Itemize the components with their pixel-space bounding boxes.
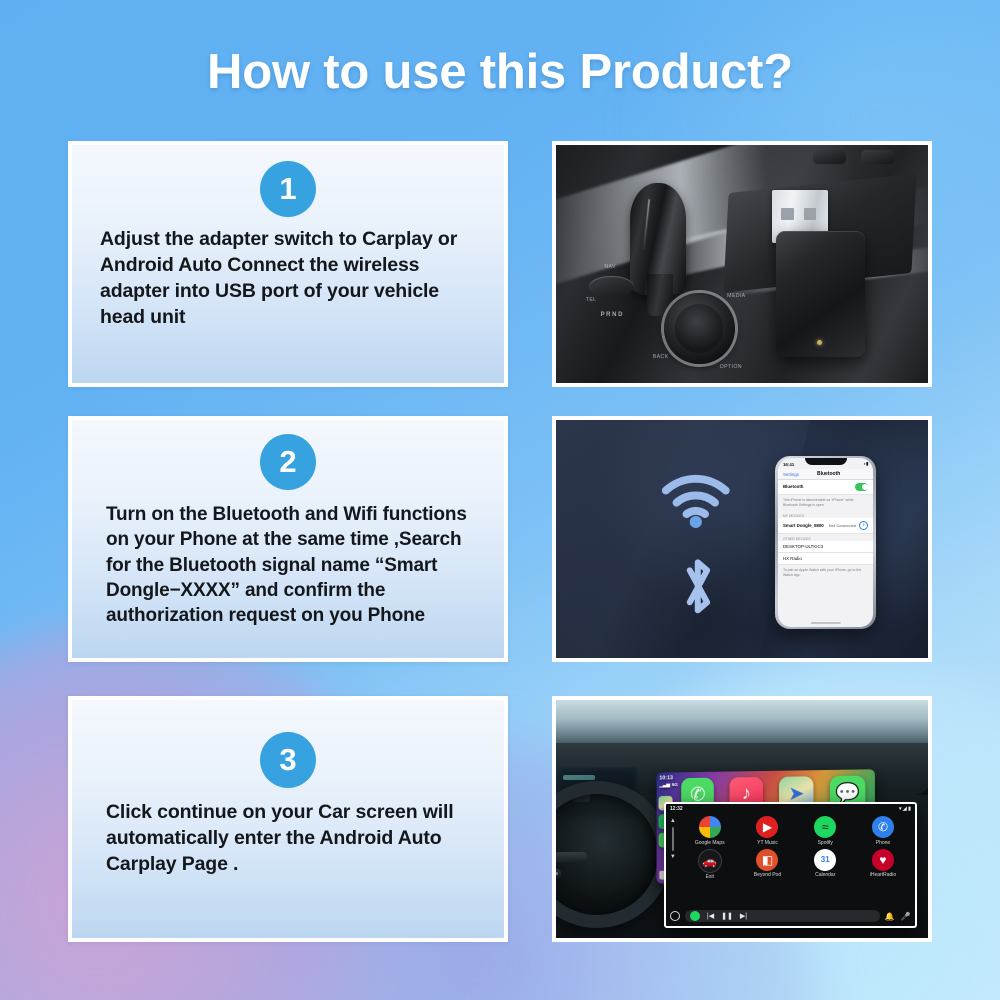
android-auto-app[interactable]: ≈ Spotify <box>797 816 853 846</box>
android-auto-app[interactable]: ♥ iHeartRadio <box>855 849 911 881</box>
bluetooth-discoverable-note: This iPhone is discoverable as "iPhone" … <box>778 495 873 512</box>
android-auto-app[interactable]: Google Maps <box>682 816 738 846</box>
step-image-2: 16:41 ◗▮ Settings Bluetooth Bluetooth <box>552 416 932 662</box>
infographic-poster: How to use this Product? 1 Adjust the ad… <box>0 0 1000 1000</box>
android-auto-app-grid[interactable]: Google Maps ▶ YT Music ≈ Spotify <box>682 816 911 880</box>
bluetooth-page-title: Bluetooth <box>799 471 859 477</box>
steering-button[interactable] <box>556 872 558 875</box>
step-card-2: 2 Turn on the Bluetooth and Wifi functio… <box>68 416 508 662</box>
car-exit-icon[interactable]: 🚗 <box>698 849 722 873</box>
step-row-3: 3 Click continue on your Car screen will… <box>68 696 932 942</box>
gear-position-letters: P R N D <box>601 312 623 318</box>
android-auto-status-icons: ▾ ◢ ▮ <box>899 806 911 812</box>
android-auto-app-label: Beyond Pod <box>740 872 796 878</box>
step-card-3: 3 Click continue on your Car screen will… <box>68 696 508 942</box>
steering-spoke <box>556 852 587 863</box>
carplay-signal: ▁▃▅ 5G <box>659 783 677 790</box>
console-label-back: BACK <box>653 354 669 360</box>
step-number-badge-2: 2 <box>260 434 316 490</box>
android-auto-app-label: iHeartRadio <box>855 872 911 878</box>
iphone-home-indicator <box>810 622 841 624</box>
device-info-icon[interactable]: i <box>859 521 868 530</box>
android-auto-screen[interactable]: 12:32 ▾ ◢ ▮ ▲ ▼ Google Maps <box>664 802 917 928</box>
console-label-nav: NAV <box>604 264 615 270</box>
iphone-screen: 16:41 ◗▮ Settings Bluetooth Bluetooth <box>778 458 873 627</box>
step-row-2: 2 Turn on the Bluetooth and Wifi functio… <box>68 416 932 662</box>
step-image-3: 10:13 ▁▃▅ 5G <box>552 696 932 942</box>
android-auto-time: 12:32 <box>670 806 683 812</box>
scroll-thumb[interactable] <box>672 827 674 851</box>
youtube-music-icon[interactable]: ▶ <box>756 816 778 838</box>
android-auto-app-label: Exit <box>682 874 738 880</box>
wifi-icon <box>653 472 739 529</box>
console-label-option: OPTION <box>720 364 742 370</box>
iphone-nav-bar: Settings Bluetooth <box>778 469 873 480</box>
android-auto-app-label: YT Music <box>740 840 796 846</box>
android-auto-app-label: Spotify <box>797 840 853 846</box>
media-controls[interactable]: |◀ ❚❚ ▶| <box>685 910 880 922</box>
wireless-adapter-dongle <box>776 231 865 357</box>
paired-device-name: Smart Dongle_5800 <box>783 523 824 528</box>
chevron-up-icon[interactable]: ▲ <box>670 818 676 824</box>
bluetooth-icon <box>668 553 728 620</box>
android-auto-home-icon[interactable] <box>670 911 680 921</box>
pause-icon[interactable]: ❚❚ <box>721 912 733 920</box>
dongle-led-indicator <box>817 340 822 345</box>
bluetooth-toggle-label: Bluetooth <box>783 484 804 489</box>
bluetooth-toggle-row[interactable]: Bluetooth <box>778 480 873 495</box>
android-auto-app[interactable]: ◧ Beyond Pod <box>740 849 796 881</box>
shifter-highlight <box>643 199 650 250</box>
bluetooth-settings-list: Bluetooth This iPhone is discoverable as… <box>778 480 873 582</box>
car-dashboard-photo: 10:13 ▁▃▅ 5G <box>556 700 928 938</box>
bell-icon[interactable]: 🔔 <box>885 912 895 921</box>
step-image-1: P R N D NAV TEL BACK MEDIA OPTION Car ce… <box>552 141 932 387</box>
android-auto-app[interactable]: 31 Calendar <box>797 849 853 881</box>
calendar-icon[interactable]: 31 <box>814 849 836 871</box>
microphone-icon[interactable]: 🎤 <box>901 912 911 921</box>
android-auto-app-label: Calendar <box>797 872 853 878</box>
android-auto-app[interactable]: ▶ YT Music <box>740 816 796 846</box>
status-icons: ◗▮ <box>863 461 868 467</box>
console-label-tel: TEL <box>586 297 597 303</box>
android-auto-dock[interactable]: |◀ ❚❚ ▶| 🔔 🎤 <box>670 909 911 923</box>
android-auto-app-label: Phone <box>855 840 911 846</box>
android-auto-app[interactable]: 🚗 Exit <box>682 849 738 881</box>
android-auto-app-label: Google Maps <box>682 840 738 846</box>
phone-icon[interactable]: ✆ <box>872 816 894 838</box>
iphone-notch <box>805 458 847 465</box>
spotify-icon[interactable]: ≈ <box>814 816 836 838</box>
signal-bars-icon: ▁▃▅ <box>659 783 669 789</box>
android-auto-status-bar: 12:32 ▾ ◢ ▮ <box>666 806 915 812</box>
console-label-media: MEDIA <box>727 293 745 299</box>
google-maps-icon[interactable] <box>699 816 721 838</box>
next-track-icon[interactable]: ▶| <box>740 912 747 920</box>
iphone-device: 16:41 ◗▮ Settings Bluetooth Bluetooth <box>775 456 875 630</box>
page-title: How to use this Product? <box>0 44 1000 100</box>
step-description-2: Turn on the Bluetooth and Wifi functions… <box>106 502 484 628</box>
paired-device-row[interactable]: Smart Dongle_5800 Not Connected i <box>778 518 873 534</box>
cluster-readout <box>563 775 596 780</box>
other-device-row[interactable]: HX Radio <box>778 553 873 565</box>
paired-device-status: Not Connected <box>829 523 857 528</box>
bluetooth-toggle-switch[interactable] <box>855 483 868 491</box>
step-number-badge-3: 3 <box>260 732 316 788</box>
apple-watch-footer-note: To pair an Apple Watch with your iPhone,… <box>778 565 873 582</box>
console-top-button-right <box>861 150 894 164</box>
bluetooth-pairing-photo: 16:41 ◗▮ Settings Bluetooth Bluetooth <box>556 420 928 658</box>
previous-track-icon[interactable]: |◀ <box>707 912 714 920</box>
carplay-status-bar: 10:13 ▁▃▅ 5G <box>659 776 677 790</box>
other-device-name: DESKTOP-ULTKIC3 <box>783 544 823 549</box>
other-device-name: HX Radio <box>783 556 802 561</box>
android-auto-app[interactable]: ✆ Phone <box>855 816 911 846</box>
step-description-1: Adjust the adapter switch to Carplay or … <box>100 227 484 331</box>
console-oval-button <box>589 276 634 297</box>
back-to-settings-link[interactable]: Settings <box>783 472 799 477</box>
step-description-3: Click continue on your Car screen will a… <box>106 800 484 878</box>
spotify-icon[interactable] <box>690 911 700 921</box>
android-auto-scrollbar[interactable]: ▲ ▼ <box>670 818 676 860</box>
iheartradio-icon[interactable]: ♥ <box>872 849 894 871</box>
step-row-1: 1 Adjust the adapter switch to Carplay o… <box>68 141 932 387</box>
console-top-button-left <box>813 150 846 164</box>
status-time: 16:41 <box>783 462 794 467</box>
beyondpod-icon[interactable]: ◧ <box>756 849 778 871</box>
other-device-row[interactable]: DESKTOP-ULTKIC3 <box>778 541 873 553</box>
step-card-1: 1 Adjust the adapter switch to Carplay o… <box>68 141 508 387</box>
step-number-badge-1: 1 <box>260 161 316 217</box>
steering-wheel-buttons[interactable] <box>556 869 561 878</box>
car-console-photo: P R N D NAV TEL BACK MEDIA OPTION <box>556 145 928 383</box>
rotary-control-knob <box>664 293 735 364</box>
chevron-down-icon[interactable]: ▼ <box>670 854 676 860</box>
